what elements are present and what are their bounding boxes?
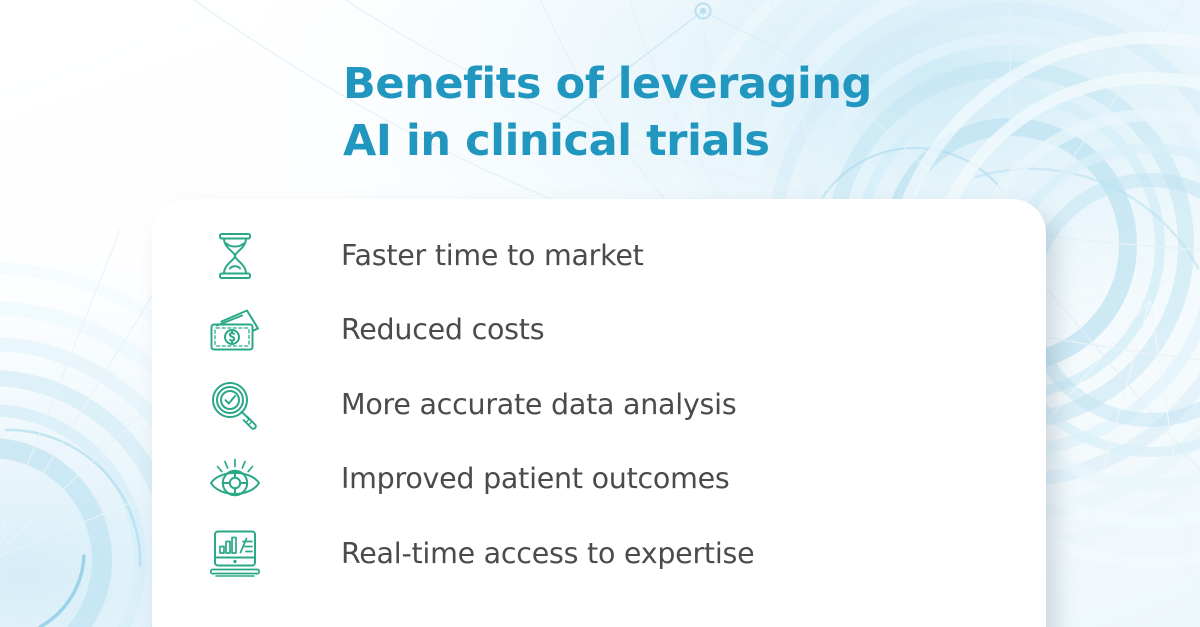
money-banknotes-icon [204, 308, 266, 354]
laptop-chart-icon [204, 529, 266, 579]
list-item-label: Faster time to market [341, 240, 644, 273]
list-item-label: Reduced costs [341, 314, 544, 347]
list-item-label: Real-time access to expertise [341, 538, 754, 571]
list-item: Improved patient outcomes [152, 443, 1046, 518]
benefits-card: Faster time to market Reduced costs [152, 199, 1046, 627]
benefits-list: Faster time to market Reduced costs [152, 219, 1046, 592]
page-title-line-1: Benefits of leveraging [343, 56, 1003, 113]
list-item-label: More accurate data analysis [341, 389, 736, 422]
list-item: Reduced costs [152, 294, 1046, 369]
list-item-label: Improved patient outcomes [341, 463, 730, 496]
list-item: Faster time to market [152, 219, 1046, 294]
eye-target-icon [204, 457, 266, 503]
page-title-line-2: AI in clinical trials [343, 113, 1003, 170]
list-item: Real-time access to expertise [152, 517, 1046, 592]
bottom-left-accent-arcs [6, 430, 140, 627]
infographic-canvas: Benefits of leveraging AI in clinical tr… [0, 0, 1200, 627]
page-title: Benefits of leveraging AI in clinical tr… [343, 56, 1003, 170]
node-dot [700, 8, 706, 14]
magnifier-check-icon [204, 380, 266, 430]
list-item: More accurate data analysis [152, 368, 1046, 443]
hourglass-icon [204, 231, 266, 281]
node-ring [696, 4, 711, 19]
